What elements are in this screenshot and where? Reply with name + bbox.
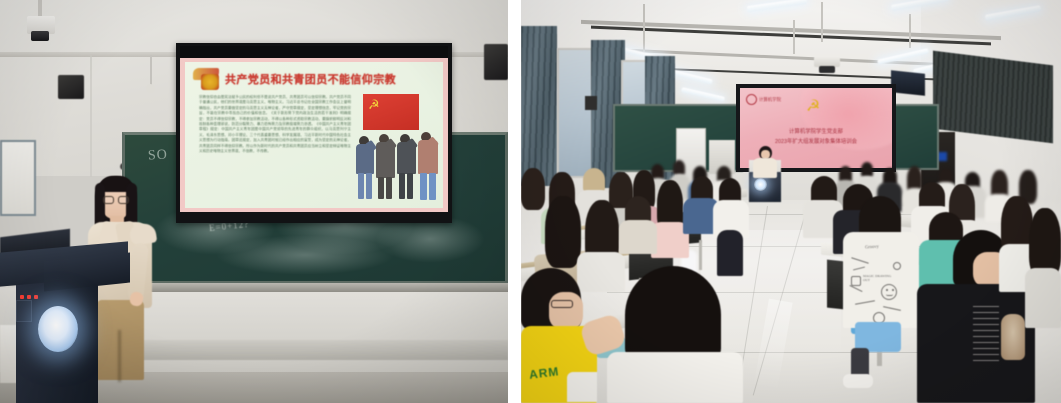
college-logo: 计算机学院: [746, 93, 790, 106]
eyeglasses-right-lens-icon: [118, 196, 129, 204]
student-head: [625, 266, 721, 364]
groovy-doodle-tshirt: Groovy MAGIC DRAWING OUT: [843, 232, 919, 328]
projector-lens-icon: [819, 66, 835, 73]
salute-to-party-flag-illustration: ☭: [355, 90, 447, 202]
wall-speaker-icon: [585, 96, 597, 110]
black-print-tshirt: [917, 284, 1035, 403]
student-shoe: [843, 374, 873, 388]
student-body: [619, 220, 657, 254]
slide-line-1: 计算机学院学生党支部: [740, 128, 892, 136]
ceiling-hook-icon: [146, 84, 155, 93]
student-head: [583, 168, 605, 192]
trousers-seam: [118, 330, 121, 382]
presenter-at-front-podium: [753, 158, 777, 178]
baseboard: [120, 340, 508, 360]
illuminated-crest-icon: [38, 306, 78, 352]
tshirt-print: [973, 306, 999, 366]
student-body: [1025, 268, 1061, 328]
eyeglasses-icon: [551, 300, 573, 308]
tshirt-panel: [567, 372, 597, 402]
right-photo[interactable]: ☭ 计算机学院 计算机学院学生党支部 2023年扩大组发展对象集体培训会: [521, 0, 1061, 403]
desk-leg: [699, 240, 702, 270]
tshirt-text: ARM: [528, 364, 560, 382]
podium-status-indicators: [20, 295, 42, 300]
student-body: [577, 252, 625, 292]
window-curtain-icon: [521, 26, 557, 186]
doodle-smiley-icon: [881, 284, 897, 300]
lamp-rod-3: [909, 14, 911, 48]
eyeglasses-icon: [103, 196, 114, 204]
student-legs: [717, 230, 743, 276]
student-body: [607, 352, 743, 403]
side-whiteboard-icon: [0, 140, 36, 216]
slide-surface: 共产党员和共青团员不能信仰宗教 宗教信仰自由是宪法赋予公民的权利但不是说共产党员…: [180, 58, 448, 212]
logo-mark-icon: [746, 94, 757, 105]
slide-title: 共产党员和共青团员不能信仰宗教: [225, 73, 415, 88]
left-photo[interactable]: 1M E=0+12? SO 共产党员和共青团员不能信仰宗教 宗教信仰自由是宪法赋…: [0, 0, 508, 403]
slide-line-2: 2023年扩大组发展对象集体培训会: [740, 138, 892, 146]
photo-composite: 1M E=0+12? SO 共产党员和共青团员不能信仰宗教 宗教信仰自由是宪法赋…: [0, 0, 1061, 403]
window-curtain-icon-4: [933, 51, 1053, 144]
tshirt-text: Groovy: [865, 244, 879, 250]
lamp-rod-2: [821, 2, 823, 42]
tshirt-subtext: MAGIC DRAWING OUT: [863, 274, 897, 282]
tshirt-print-motif: [1001, 314, 1025, 360]
wall-seam: [90, 55, 92, 177]
doodle-box-icon: [851, 276, 861, 286]
slide-body-text: 宗教信仰自由是宪法赋予公民的权利但不是说共产党员、共青团员可以信仰宗教。共产党员…: [199, 95, 351, 205]
lamp-rod-1: [643, 4, 645, 54]
wall-monitor-icon: [891, 70, 925, 96]
hammer-and-sickle-icon: ☭: [806, 98, 824, 115]
student-head: [673, 160, 685, 175]
podium-crest-glow-icon: [754, 178, 767, 191]
window-1: [557, 48, 593, 178]
photo-gutter: [508, 0, 521, 403]
hammer-and-sickle-icon: ☭: [368, 98, 382, 112]
student-head: [545, 196, 581, 268]
ceiling-rod: [150, 55, 152, 85]
projector-lens-icon: [31, 31, 49, 41]
podium-control-panel[interactable]: [16, 300, 32, 322]
doodle-circle-icon: [893, 262, 901, 270]
wall-speaker-right-icon: [484, 44, 508, 80]
student-face: [549, 292, 583, 330]
lamp-rod-4: [793, 20, 795, 54]
student-head: [861, 162, 873, 177]
wall-speaker-icon: [58, 75, 84, 99]
slide-inner: 共产党员和共青团员不能信仰宗教 宗教信仰自由是宪法赋予公民的权利但不是说共产党员…: [185, 62, 443, 208]
party-emblem-icon: [201, 74, 219, 90]
back-blackboard-right: [891, 104, 939, 170]
chalk-tray: [122, 283, 508, 292]
logo-text: 计算机学院: [759, 97, 781, 102]
student-head: [521, 168, 545, 210]
chalk-note-3: SO: [147, 147, 168, 164]
